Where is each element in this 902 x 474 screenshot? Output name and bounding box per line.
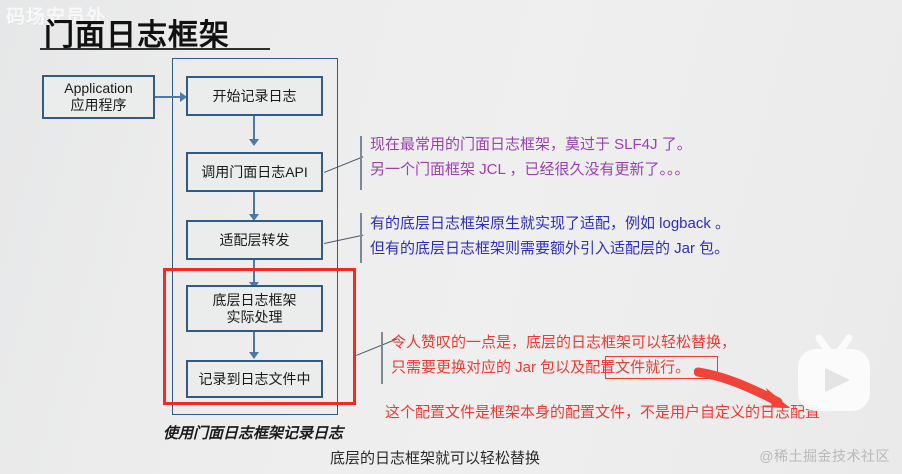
slide-canvas: 码场安员外 门面日志框架 Application 应用程序 开始记录日志 调用门…: [0, 0, 902, 474]
flow-box-application[interactable]: Application 应用程序: [42, 75, 155, 119]
watermark-bottom-right: @稀土掘金技术社区: [759, 446, 890, 466]
arrow-start-to-api-head: [249, 139, 259, 146]
bilibili-tv-play-logo-icon: [793, 332, 875, 418]
connector-app-to-start: [155, 96, 180, 98]
annotation-config-line-1: 这个配置文件是框架本身的配置文件，不是用户自定义的日志配置: [385, 404, 820, 421]
annotation-adapter-line-2: 但有的底层日志框架则需要额外引入适配层的 Jar 包。: [370, 240, 729, 257]
flow-box-start-logging[interactable]: 开始记录日志: [186, 76, 323, 116]
flow-box-adapter-forward[interactable]: 适配层转发: [186, 220, 323, 260]
annotation-facade-line-1: 现在最常用的门面日志框架，莫过于 SLF4J 了。: [370, 136, 692, 153]
connector-api-to-adapter: [253, 192, 255, 216]
tick-facade-frameworks: [360, 136, 362, 190]
bottom-note: 底层的日志框架就可以轻松替换: [330, 447, 540, 468]
annotation-adapter-line-1: 有的底层日志框架原生就实现了适配，例如 logback 。: [370, 215, 730, 232]
flow-box-write-to-file[interactable]: 记录到日志文件中: [186, 360, 323, 398]
annotation-facade-line-2: 另一个门面框架 JCL ，已经很久没有更新了。。。: [370, 161, 689, 178]
flow-box-underlying-framework[interactable]: 底层日志框架 实际处理: [186, 285, 323, 332]
annotation-facade-frameworks: 现在最常用的门面日志框架，莫过于 SLF4J 了。另一个门面框架 JCL ，已经…: [370, 132, 692, 182]
annotation-swap-line-1: 令人赞叹的一点是，底层的日志框架可以轻松替换，: [391, 334, 736, 351]
annotation-config-clarification: 这个配置文件是框架本身的配置文件，不是用户自定义的日志配置: [385, 400, 820, 425]
tick-swap-note: [381, 332, 383, 384]
flow-caption: 使用门面日志框架记录日志: [163, 422, 343, 443]
connector-start-to-api: [253, 115, 255, 141]
title-underline: [40, 48, 270, 50]
flow-box-call-facade-api[interactable]: 调用门面日志API: [186, 152, 323, 192]
tick-adapter-note: [360, 213, 362, 263]
annotation-adapter-note: 有的底层日志框架原生就实现了适配，例如 logback 。但有的底层日志框架则需…: [370, 211, 730, 261]
